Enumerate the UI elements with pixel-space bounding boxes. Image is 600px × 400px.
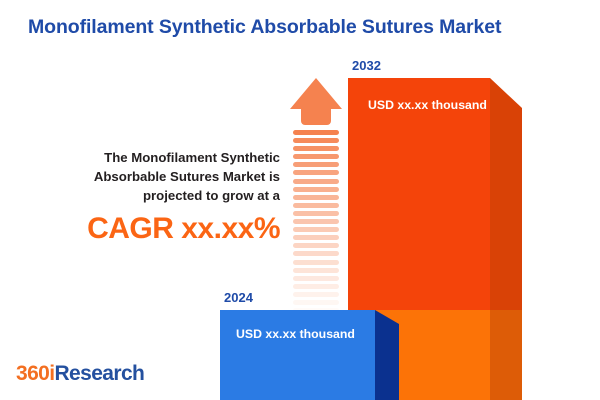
arrow-bar-segment [293, 130, 339, 135]
bar-2032-side-face-lower [490, 310, 522, 400]
callout-line-2: Absorbable Sutures Market is [40, 167, 280, 186]
arrow-bar-segment [293, 300, 339, 305]
arrow-bar-segment [293, 146, 339, 151]
bar-2024-side-face [375, 310, 399, 400]
arrow-bar-segment [293, 219, 339, 224]
arrow-gradient-bars [293, 130, 339, 286]
arrow-bar-segment [293, 251, 339, 256]
bar-label-value-2024: USD xx.xx thousand [236, 327, 355, 341]
brand-logo: 360iResearch [16, 362, 144, 386]
arrow-bar-segment [293, 211, 339, 216]
arrow-bar-segment [293, 138, 339, 143]
arrow-bar-segment [293, 154, 339, 159]
page-title: Monofilament Synthetic Absorbable Suture… [28, 16, 578, 39]
arrow-bar-segment [293, 292, 339, 297]
arrow-bar-segment [293, 276, 339, 281]
arrow-head-icon [290, 78, 342, 109]
arrow-bar-segment [293, 227, 339, 232]
arrow-bar-segment [293, 170, 339, 175]
logo-text-360i: 360i [16, 362, 54, 385]
arrow-bar-segment [293, 195, 339, 200]
arrow-bar-segment [293, 235, 339, 240]
cagr-value: CAGR xx.xx% [40, 213, 280, 245]
arrow-bar-segment [293, 187, 339, 192]
arrow-bar-segment [293, 179, 339, 184]
logo-text-research: Research [54, 362, 144, 385]
arrow-bar-segment [293, 243, 339, 248]
callout-line-3: projected to grow at a [40, 186, 280, 205]
arrow-neck-icon [301, 108, 331, 125]
bar-2032-front-face-upper [348, 78, 490, 310]
arrow-bar-segment [293, 268, 339, 273]
infographic-canvas: Monofilament Synthetic Absorbable Suture… [0, 0, 600, 400]
callout-text-block: The Monofilament Synthetic Absorbable Su… [40, 148, 280, 245]
growth-arrow-icon [290, 78, 342, 286]
arrow-bar-segment [293, 162, 339, 167]
bar-label-year-2024: 2024 [224, 290, 253, 305]
bar-2024-front-face [220, 310, 375, 400]
arrow-bar-segment [293, 284, 339, 289]
bar-label-value-2032: USD xx.xx thousand [368, 98, 487, 112]
callout-line-1: The Monofilament Synthetic [40, 148, 280, 167]
bar-label-year-2032: 2032 [352, 58, 381, 73]
arrow-bar-segment [293, 203, 339, 208]
bar-2024 [220, 310, 375, 400]
arrow-bar-segment [293, 260, 339, 265]
